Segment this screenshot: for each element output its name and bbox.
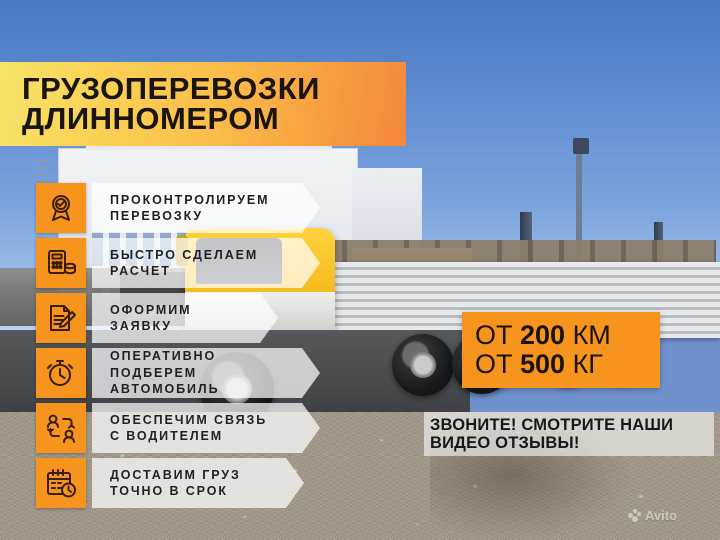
people-exchange-icon: [36, 403, 86, 453]
headline-line-1: ГРУЗОПЕРЕВОЗКИ: [22, 74, 406, 104]
feature-item-calculation: БЫСТРО СДЕЛАЕМ РАСЧЕТ: [36, 238, 320, 288]
feature-label: ОПЕРАТИВНО ПОДБЕРЕМ АВТОМОБИЛЬ: [110, 348, 220, 398]
feature-panel: ОПЕРАТИВНО ПОДБЕРЕМ АВТОМОБИЛЬ: [92, 348, 320, 398]
feature-label: ДОСТАВИМ ГРУЗ ТОЧНО В СРОК: [110, 467, 241, 500]
price-distance-value: 200: [520, 320, 565, 350]
document-pen-icon: [36, 293, 86, 343]
feature-item-driver-contact: ОБЕСПЕЧИМ СВЯЗЬ С ВОДИТЕЛЕМ: [36, 403, 320, 453]
headline-banner: ГРУЗОПЕРЕВОЗКИ ДЛИННОМЕРОМ: [0, 62, 406, 146]
avito-watermark-label: Avito: [645, 508, 677, 523]
feature-panel: ПРОКОНТРОЛИРУЕМ ПЕРЕВОЗКУ: [92, 183, 320, 233]
stopwatch-icon: [36, 348, 86, 398]
feature-panel: ОФОРМИМ ЗАЯВКУ: [92, 293, 278, 343]
feature-panel: ДОСТАВИМ ГРУЗ ТОЧНО В СРОК: [92, 458, 304, 508]
truck-rear-hub-1: [410, 352, 436, 378]
calendar-clock-icon: [36, 458, 86, 508]
feature-panel: БЫСТРО СДЕЛАЕМ РАСЧЕТ: [92, 238, 320, 288]
feature-item-on-time-delivery: ДОСТАВИМ ГРУЗ ТОЧНО В СРОК: [36, 458, 304, 508]
feature-label: БЫСТРО СДЕЛАЕМ РАСЧЕТ: [110, 247, 258, 280]
award-badge-icon: [36, 183, 86, 233]
call-to-action: ЗВОНИТЕ! СМОТРИТЕ НАШИ ВИДЕО ОТЗЫВЫ!: [424, 412, 714, 456]
feature-item-application: ОФОРМИМ ЗАЯВКУ: [36, 293, 278, 343]
cta-line-2: ВИДЕО ОТЗЫВЫ!: [430, 434, 714, 452]
price-distance-unit: КМ: [565, 320, 611, 350]
feature-item-control: ПРОКОНТРОЛИРУЕМ ПЕРЕВОЗКУ: [36, 183, 320, 233]
avito-logo-icon: [628, 509, 641, 522]
feature-item-vehicle-selection: ОПЕРАТИВНО ПОДБЕРЕМ АВТОМОБИЛЬ: [36, 348, 320, 398]
feature-label: ПРОКОНТРОЛИРУЕМ ПЕРЕВОЗКУ: [110, 192, 269, 225]
price-distance-prefix: ОТ: [475, 320, 520, 350]
cta-line-1: ЗВОНИТЕ! СМОТРИТЕ НАШИ: [430, 416, 714, 434]
price-weight-unit: КГ: [565, 349, 603, 379]
light-mast-head: [573, 138, 589, 154]
feature-panel: ОБЕСПЕЧИМ СВЯЗЬ С ВОДИТЕЛЕМ: [92, 403, 320, 453]
advertisement-image: ГРУЗОПЕРЕВОЗКИ ДЛИННОМЕРОМ ПРОКОНТРОЛИРУ…: [0, 0, 720, 540]
price-conditions-box: ОТ 200 КМ ОТ 500 КГ: [462, 312, 660, 388]
price-weight-value: 500: [520, 349, 565, 379]
price-line-weight: ОТ 500 КГ: [475, 350, 660, 379]
feature-label: ОБЕСПЕЧИМ СВЯЗЬ С ВОДИТЕЛЕМ: [110, 412, 267, 445]
price-line-distance: ОТ 200 КМ: [475, 321, 660, 350]
avito-watermark: Avito: [628, 508, 677, 523]
headline-line-2: ДЛИННОМЕРОМ: [22, 104, 406, 134]
price-weight-prefix: ОТ: [475, 349, 520, 379]
calculator-icon: [36, 238, 86, 288]
feature-label: ОФОРМИМ ЗАЯВКУ: [110, 302, 191, 335]
